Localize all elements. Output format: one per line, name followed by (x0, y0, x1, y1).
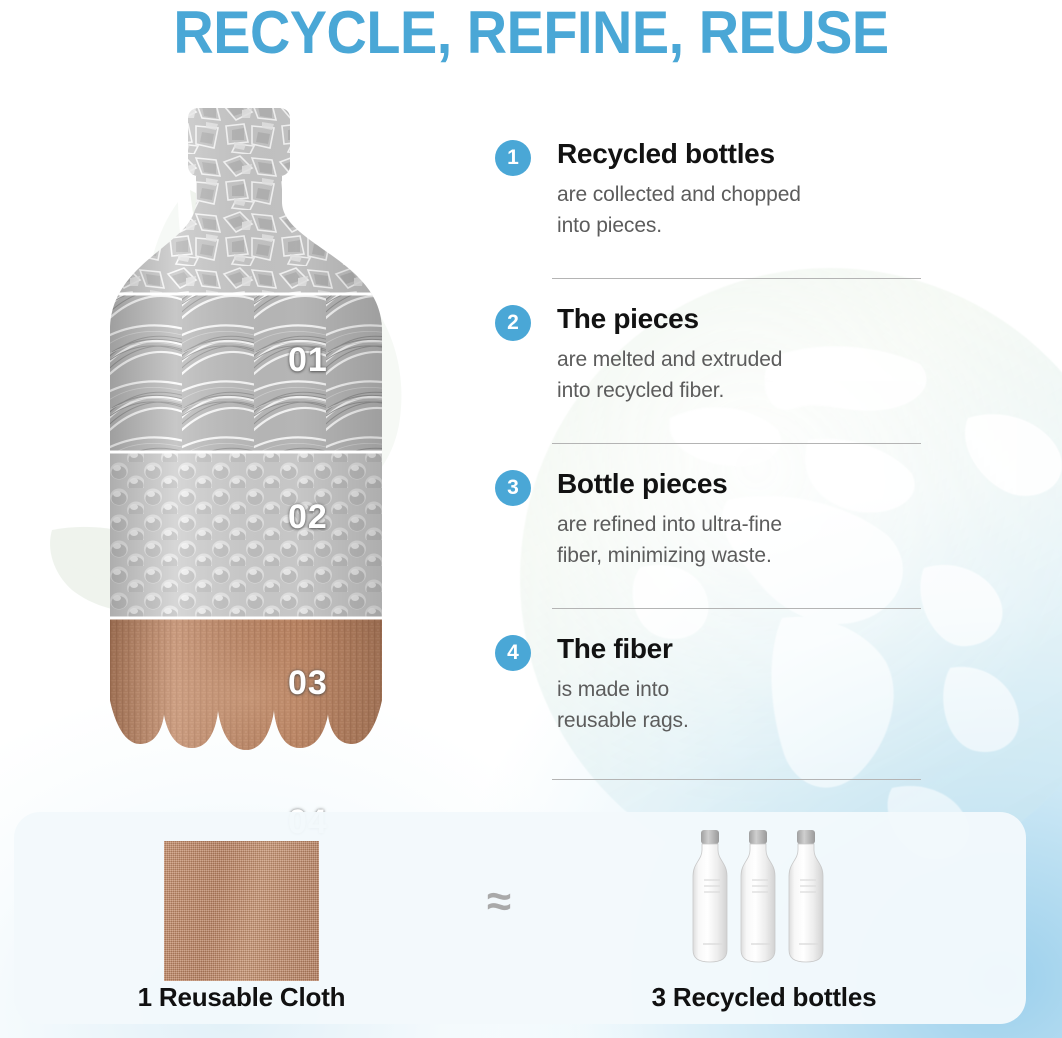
recycled-bottles-icon (687, 822, 837, 982)
bottles-caption: 3 Recycled bottles (624, 982, 904, 1013)
process-step-4: 4 The fiber is made into reusable rags. (495, 632, 965, 797)
process-step-2: 2 The pieces are melted and extruded int… (495, 302, 965, 467)
step-divider-1 (552, 278, 921, 279)
step-title-3: Bottle pieces (557, 467, 957, 501)
step-body-1: Recycled bottles are collected and chopp… (557, 137, 957, 241)
bottle-diagram: 01 02 03 04 (110, 98, 410, 798)
step-body-2: The pieces are melted and extruded into … (557, 302, 957, 406)
step-description-4: is made into reusable rags. (557, 674, 957, 736)
equivalence-panel: ≈ (14, 812, 1026, 1024)
step-title-4: The fiber (557, 632, 957, 666)
step-divider-4 (552, 779, 921, 780)
process-step-3: 3 Bottle pieces are refined into ultra-f… (495, 467, 965, 632)
process-step-1: 1 Recycled bottles are collected and cho… (495, 137, 965, 302)
step-body-3: Bottle pieces are refined into ultra-fin… (557, 467, 957, 571)
step-number-badge-2: 2 (495, 305, 531, 341)
process-steps-list: 1 Recycled bottles are collected and cho… (495, 137, 965, 797)
step-description-1: are collected and chopped into pieces. (557, 179, 957, 241)
step-number-badge-1: 1 (495, 140, 531, 176)
reusable-cloth-swatch (164, 841, 319, 981)
bottle-segment-label-03: 03 (288, 664, 328, 703)
step-description-2: are melted and extruded into recycled fi… (557, 344, 957, 406)
cloth-caption: 1 Reusable Cloth (109, 982, 374, 1013)
infographic-page: RECYCLE, REFINE, REUSE (0, 0, 1062, 1038)
step-number-badge-4: 4 (495, 635, 531, 671)
approximately-equal-icon: ≈ (469, 880, 529, 924)
step-divider-3 (552, 608, 921, 609)
page-title: RECYCLE, REFINE, REUSE (37, 2, 1025, 64)
step-body-4: The fiber is made into reusable rags. (557, 632, 957, 736)
step-divider-2 (552, 443, 921, 444)
bottle-segment-label-02: 02 (288, 498, 328, 537)
step-title-1: Recycled bottles (557, 137, 957, 171)
step-description-3: are refined into ultra-fine fiber, minim… (557, 509, 957, 571)
step-number-badge-3: 3 (495, 470, 531, 506)
bottle-segment-label-01: 01 (288, 341, 328, 380)
step-title-2: The pieces (557, 302, 957, 336)
